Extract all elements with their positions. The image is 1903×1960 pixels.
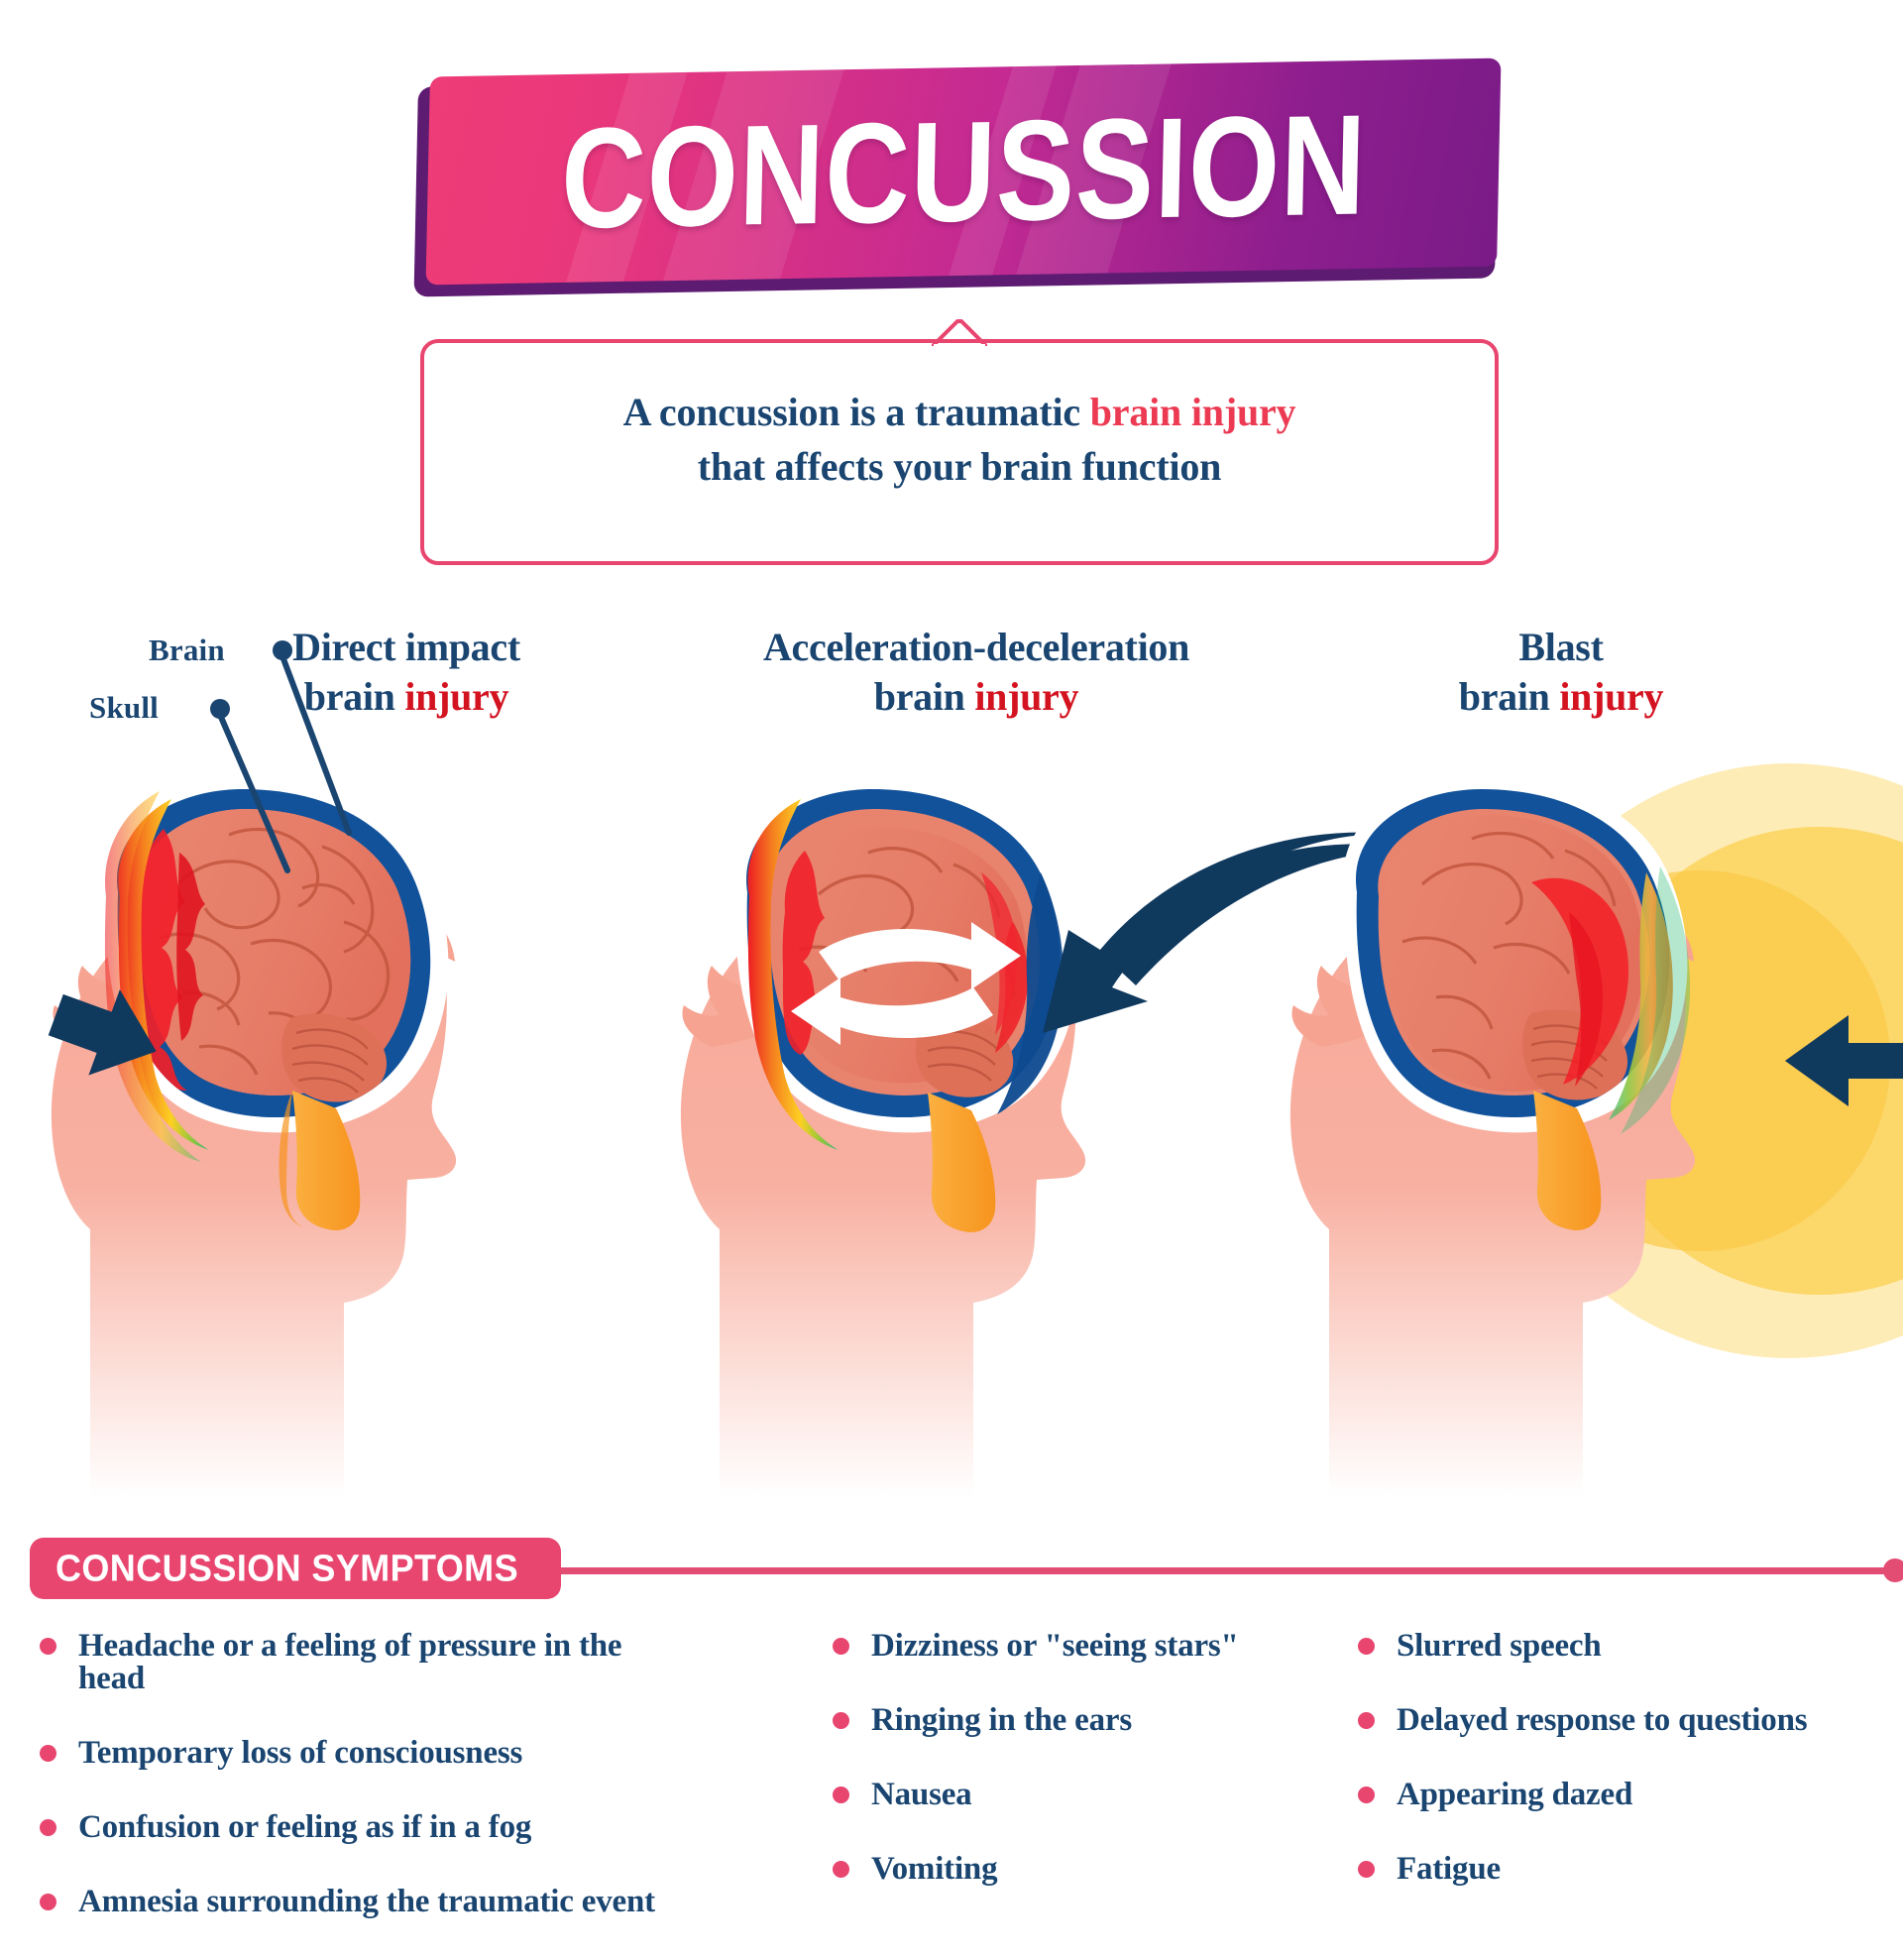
bullet-icon xyxy=(40,1745,56,1762)
symptoms-rule-end-dot xyxy=(1883,1558,1903,1582)
definition-callout: A concussion is a traumatic brain injury… xyxy=(420,339,1499,565)
symptom-item: Confusion or feeling as if in a fog xyxy=(40,1811,694,1844)
symptom-label: Confusion or feeling as if in a fog xyxy=(78,1811,531,1844)
heading-line2-b: injury xyxy=(1559,674,1663,719)
brain-leader-line xyxy=(282,656,349,833)
bullet-icon xyxy=(1358,1638,1375,1655)
symptom-item: Amnesia surrounding the traumatic event xyxy=(40,1886,694,1918)
anatomy-leader-lines xyxy=(0,615,595,932)
bullet-icon xyxy=(833,1638,849,1655)
symptom-label: Fatigue xyxy=(1397,1853,1501,1886)
title-banner-face: CONCUSSION xyxy=(426,58,1502,286)
brain xyxy=(1385,815,1644,1100)
heading-line1: Blast xyxy=(1518,625,1603,669)
column-heading-blast: Blast brain injury xyxy=(1284,623,1839,722)
symptom-item: Appearing dazed xyxy=(1358,1779,1903,1811)
symptom-label: Slurred speech xyxy=(1397,1630,1602,1663)
symptoms-column-2: Dizziness or "seeing stars" Ringing in t… xyxy=(833,1630,1249,1927)
symptom-label: Ringing in the ears xyxy=(871,1704,1132,1737)
anatomy-label-brain: Brain xyxy=(149,633,225,668)
definition-line2: that affects your brain function xyxy=(698,444,1221,489)
symptom-item: Nausea xyxy=(833,1779,1249,1811)
symptom-label: Headache or a feeling of pressure in the… xyxy=(78,1630,694,1695)
bullet-icon xyxy=(833,1861,849,1878)
symptom-item: Vomiting xyxy=(833,1853,1249,1886)
symptom-label: Dizziness or "seeing stars" xyxy=(871,1630,1239,1663)
column-heading-acceleration-deceleration: Acceleration-deceleration brain injury xyxy=(590,623,1363,722)
skull-leader-line xyxy=(220,715,287,870)
heading-line2-a: brain xyxy=(1459,674,1560,719)
bullet-icon xyxy=(833,1787,849,1803)
bullet-icon xyxy=(1358,1787,1375,1803)
illustration-acceleration-deceleration xyxy=(624,763,1279,1497)
symptom-item: Slurred speech xyxy=(1358,1630,1903,1663)
symptoms-heading-badge: CONCUSSION SYMPTOMS xyxy=(30,1538,561,1599)
symptom-item: Headache or a feeling of pressure in the… xyxy=(40,1630,694,1695)
symptom-label: Temporary loss of consciousness xyxy=(78,1737,522,1770)
symptom-label: Delayed response to questions xyxy=(1397,1704,1807,1737)
definition-text: A concussion is a traumatic brain injury… xyxy=(424,385,1495,494)
heading-line2-a: brain xyxy=(874,674,975,719)
bullet-icon xyxy=(833,1712,849,1729)
bullet-icon xyxy=(40,1819,56,1836)
callout-notch-icon xyxy=(932,318,987,346)
definition-highlight: brain injury xyxy=(1090,390,1296,434)
symptom-item: Ringing in the ears xyxy=(833,1704,1249,1737)
symptoms-column-3: Slurred speech Delayed response to quest… xyxy=(1358,1630,1903,1927)
heading-line2-b: injury xyxy=(974,674,1078,719)
bullet-icon xyxy=(40,1894,56,1910)
symptom-item: Dizziness or "seeing stars" xyxy=(833,1630,1249,1663)
symptom-label: Appearing dazed xyxy=(1397,1779,1632,1811)
symptom-item: Temporary loss of consciousness xyxy=(40,1737,694,1770)
symptom-label: Amnesia surrounding the traumatic event xyxy=(78,1886,655,1918)
symptoms-column-1: Headache or a feeling of pressure in the… xyxy=(40,1630,694,1960)
symptoms-heading-text: CONCUSSION SYMPTOMS xyxy=(56,1547,518,1591)
bullet-icon xyxy=(1358,1712,1375,1729)
symptom-label: Vomiting xyxy=(871,1853,997,1886)
symptom-label: Nausea xyxy=(871,1779,971,1811)
page-title: CONCUSSION xyxy=(559,93,1367,250)
heading-line1: Acceleration-deceleration xyxy=(763,625,1189,669)
title-banner: CONCUSSION xyxy=(416,67,1497,288)
bullet-icon xyxy=(40,1638,56,1655)
symptom-item: Delayed response to questions xyxy=(1358,1704,1903,1737)
definition-line1-part1: A concussion is a traumatic xyxy=(623,390,1090,434)
anatomy-label-skull: Skull xyxy=(89,690,159,726)
bullet-icon xyxy=(1358,1861,1375,1878)
illustration-blast xyxy=(1234,763,1888,1497)
symptom-item: Fatigue xyxy=(1358,1853,1903,1886)
